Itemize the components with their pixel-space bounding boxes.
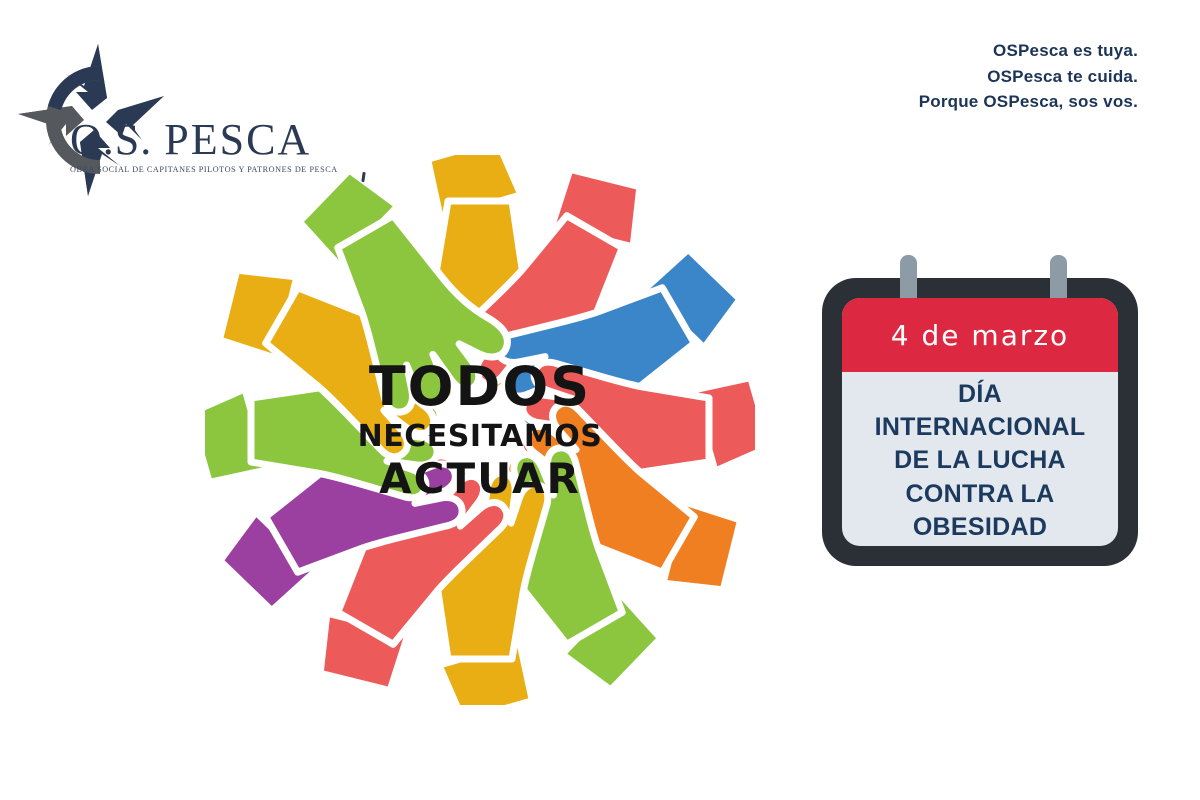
hands-group [205,155,755,705]
calendar-inner: 4 de marzo DÍA INTERNACIONAL DE LA LUCHA… [842,298,1118,546]
calendar-header: 4 de marzo [842,298,1118,372]
calendar-date-label: 4 de marzo [891,319,1069,352]
calendar-title-line: DÍA [958,378,1002,411]
calendar-title-line: INTERNACIONAL [875,411,1086,444]
tagline-line-2: OSPesca te cuida. [919,64,1138,90]
calendar-title-line: CONTRA LA [906,478,1055,511]
tagline-line-3: Porque OSPesca, sos vos. [919,89,1138,115]
tagline-line-1: OSPesca es tuya. [919,38,1138,64]
calendar-card: 4 de marzo DÍA INTERNACIONAL DE LA LUCHA… [822,278,1138,566]
logo-brand-primary: O.S. [70,115,152,164]
calendar-title-line: OBESIDAD [913,511,1047,544]
calendar-body: DÍA INTERNACIONAL DE LA LUCHA CONTRA LA … [842,372,1118,546]
poster-canvas: O.S. PESCA OBRA SOCIAL DE CAPITANES PILO… [0,0,1200,800]
tagline-block: OSPesca es tuya. OSPesca te cuida. Porqu… [919,38,1138,115]
calendar-title-line: DE LA LUCHA [894,444,1066,477]
circle-of-hands-illustration [205,155,755,705]
